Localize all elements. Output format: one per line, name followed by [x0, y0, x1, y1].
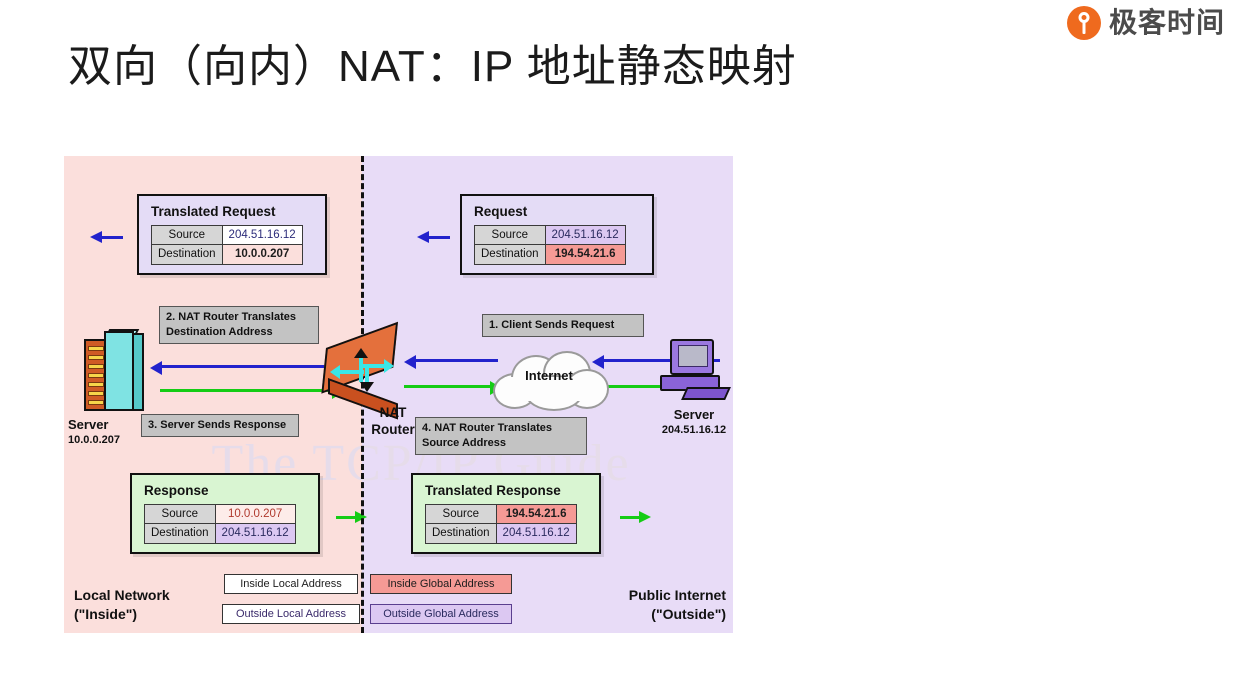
packet-response: Response Source 10.0.0.207 Destination 2… [130, 473, 320, 554]
right-server-label: Server 204.51.16.12 [624, 407, 733, 438]
nat-diagram: The TCP/IP Guide [64, 156, 733, 633]
right-server-ip: 204.51.16.12 [624, 423, 733, 437]
table-row: Source 204.51.16.12 [475, 226, 626, 245]
router-icon [326, 348, 412, 406]
packet-translated-response: Translated Response Source 194.54.21.6 D… [411, 473, 601, 554]
packet-translated-request: Translated Request Source 204.51.16.12 D… [137, 194, 327, 275]
mini-arrow-response [336, 516, 356, 519]
zone-label-line1: Local Network [74, 586, 170, 605]
row-value: 10.0.0.207 [215, 505, 295, 524]
flow-line-request-router-cloud [412, 359, 498, 362]
desktop-computer-icon [654, 339, 732, 409]
packet-title: Translated Response [425, 483, 591, 498]
brand-name: 极客时间 [1109, 9, 1225, 37]
table-row: Destination 10.0.0.207 [152, 245, 303, 264]
zone-label-line2: ("Inside") [74, 605, 170, 624]
packet-title: Response [144, 483, 310, 498]
row-value: 204.51.16.12 [545, 226, 625, 245]
zone-label-line1: Public Internet [556, 586, 726, 605]
row-label: Destination [145, 524, 216, 543]
step-callout-2: 2. NAT Router Translates Destination Add… [159, 306, 319, 344]
flow-line-response-inside [160, 389, 336, 392]
geekbang-logo-icon [1067, 6, 1101, 40]
packet-table: Source 204.51.16.12 Destination 194.54.2… [474, 225, 626, 265]
row-label: Destination [152, 245, 223, 264]
table-row: Source 204.51.16.12 [152, 226, 303, 245]
table-row: Destination 194.54.21.6 [475, 245, 626, 264]
table-row: Source 10.0.0.207 [145, 505, 296, 524]
right-server-name: Server [624, 407, 733, 423]
table-row: Source 194.54.21.6 [426, 505, 577, 524]
packet-table: Source 10.0.0.207 Destination 204.51.16.… [144, 504, 296, 544]
legend-inside-global-address: Inside Global Address [370, 574, 512, 594]
row-label: Destination [475, 245, 546, 264]
row-label: Source [426, 505, 497, 524]
row-value: 204.51.16.12 [222, 226, 302, 245]
cloud-label: Internet [491, 368, 607, 383]
packet-title: Translated Request [151, 204, 317, 219]
table-row: Destination 204.51.16.12 [145, 524, 296, 543]
legend-inside-local-address: Inside Local Address [224, 574, 358, 594]
step-callout-3: 3. Server Sends Response [141, 414, 299, 437]
packet-table: Source 194.54.21.6 Destination 204.51.16… [425, 504, 577, 544]
row-value: 194.54.21.6 [545, 245, 625, 264]
packet-title: Request [474, 204, 644, 219]
step-callout-1: 1. Client Sends Request [482, 314, 644, 337]
zone-label-line2: ("Outside") [556, 605, 726, 624]
row-value: 194.54.21.6 [496, 505, 576, 524]
row-value: 10.0.0.207 [222, 245, 302, 264]
legend-outside-local-address: Outside Local Address [222, 604, 360, 624]
mini-arrow-translated-request [101, 236, 123, 239]
zone-label-local-network: Local Network ("Inside") [74, 586, 170, 624]
rack-server-icon [84, 329, 148, 417]
row-label: Source [145, 505, 216, 524]
table-row: Destination 204.51.16.12 [426, 524, 577, 543]
legend-outside-global-address: Outside Global Address [370, 604, 512, 624]
flow-line-request-inside [160, 365, 332, 368]
row-label: Destination [426, 524, 497, 543]
cloud-icon: Internet [491, 351, 607, 407]
brand-logo: 极客时间 [1067, 6, 1225, 40]
zone-label-public-internet: Public Internet ("Outside") [556, 586, 726, 624]
row-label: Source [152, 226, 223, 245]
step-callout-4: 4. NAT Router Translates Source Address [415, 417, 587, 455]
mini-arrow-request [428, 236, 450, 239]
row-value: 204.51.16.12 [215, 524, 295, 543]
row-value: 204.51.16.12 [496, 524, 576, 543]
mini-arrow-translated-response [620, 516, 640, 519]
page-title: 双向（向内）NAT：IP 地址静态映射 [68, 30, 797, 94]
flow-line-response-router-cloud [404, 385, 496, 388]
packet-request: Request Source 204.51.16.12 Destination … [460, 194, 654, 275]
row-label: Source [475, 226, 546, 245]
flow-arrow-request-inside [150, 361, 162, 375]
packet-table: Source 204.51.16.12 Destination 10.0.0.2… [151, 225, 303, 265]
